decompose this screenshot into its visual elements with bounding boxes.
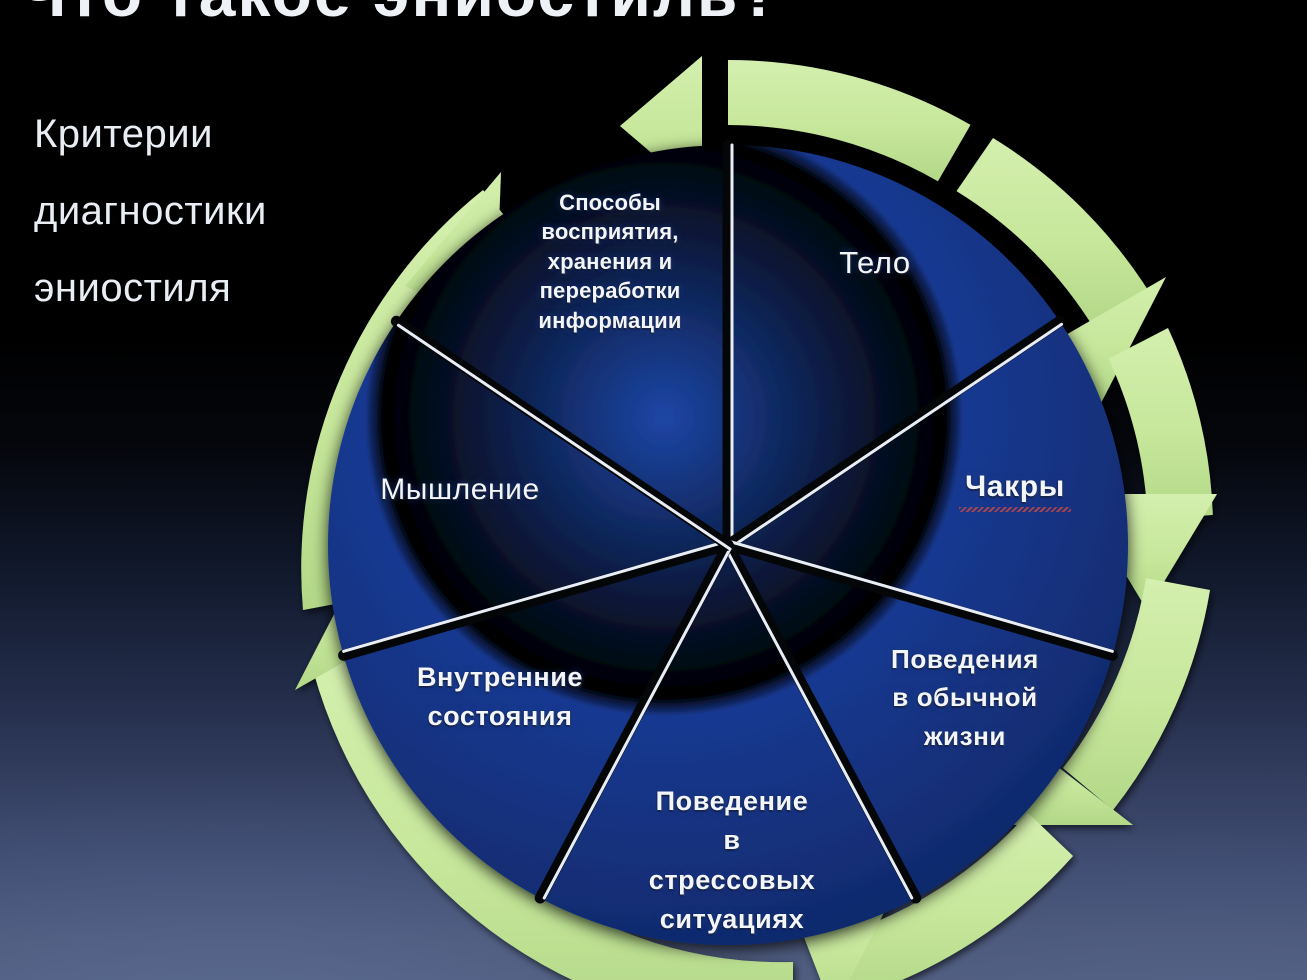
label-line: Внутренние [370,658,630,697]
sector-label-body[interactable]: Тело [760,243,990,283]
caption-line-1: Критерии [34,96,364,173]
label-line: жизни [835,717,1095,755]
sector-label-inner-states[interactable]: Внутренние состояния [370,658,630,737]
caption-line-2: диагностики [34,173,364,250]
label-line: в [592,821,872,860]
slide-title: Что такое эниостиль? [20,0,1040,34]
divider-spoke-0 [728,145,732,545]
label-line: хранения и [495,247,725,276]
label-line: Мышление [340,470,580,509]
sector-label-behaviour-ordinary[interactable]: Поведения в обычной жизни [835,640,1095,755]
label-line: Чакры [900,467,1130,506]
slide-canvas: Что такое эниостиль? Критерии диагностик… [0,0,1307,980]
label-line: Поведения [835,640,1095,678]
sector-label-perception[interactable]: Способы восприятия, хранения и переработ… [495,188,725,335]
slide-title-text: Что такое эниостиль? [20,0,1040,30]
label-line: восприятия, [495,217,725,246]
label-line: Способы [495,188,725,217]
caption-line-3: эниостиля [34,250,364,327]
label-line: переработки [495,276,725,305]
sector-label-thinking[interactable]: Мышление [340,470,580,509]
sector-label-chakras[interactable]: Чакры [900,467,1130,512]
sector-label-behaviour-stress[interactable]: Поведение в стрессовых ситуациях [592,782,872,940]
spellcheck-squiggle-icon [959,507,1071,512]
label-line: Поведение [592,782,872,821]
label-line: стрессовых [592,861,872,900]
label-line: информации [495,306,725,335]
caption-block: Критерии диагностики эниостиля [34,96,364,327]
label-line: Тело [760,243,990,283]
label-line: в обычной [835,678,1095,716]
label-line: состояния [370,697,630,736]
label-line: ситуациях [592,900,872,939]
